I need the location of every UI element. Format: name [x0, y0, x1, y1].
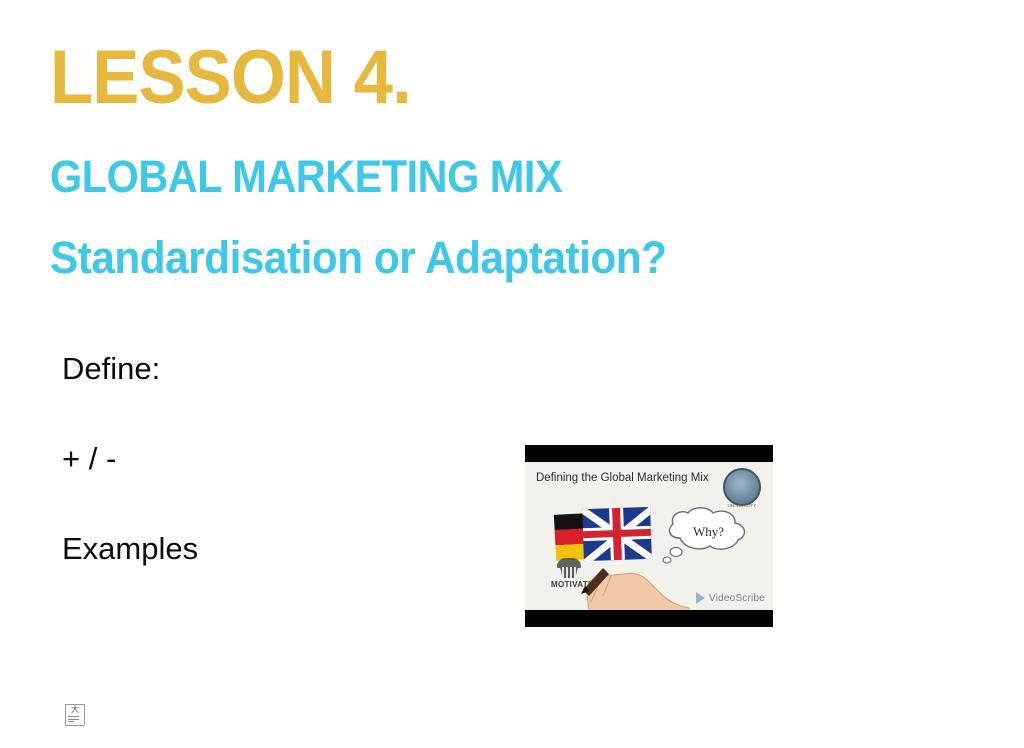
- document-icon: 大: [65, 704, 85, 726]
- cupcake-icon: [556, 558, 582, 578]
- play-triangle-icon: [696, 592, 705, 604]
- video-thumbnail[interactable]: Defining the Global Marketing Mix UNIVER…: [525, 445, 773, 627]
- document-icon-lines: [66, 716, 84, 722]
- video-caption: Defining the Global Marketing Mix: [536, 472, 709, 484]
- thought-bubble-label: Why?: [693, 524, 724, 540]
- title-block: LESSON 4. GLOBAL MARKETING MIX Standardi…: [50, 40, 950, 280]
- list-item: + / -: [62, 442, 482, 476]
- drawing-hand-icon: [581, 550, 691, 610]
- subtitle-secondary: Standardisation or Adaptation?: [50, 235, 896, 280]
- cupcake-frosting: [557, 558, 581, 568]
- document-icon-line: [68, 719, 79, 720]
- university-seal-icon: [723, 468, 761, 506]
- document-icon-line: [68, 721, 74, 722]
- body-list: Define: + / - Examples: [62, 352, 482, 622]
- document-icon-glyph: 大: [66, 706, 84, 714]
- videoscribe-label: VideoScribe: [709, 593, 765, 604]
- slide-canvas: LESSON 4. GLOBAL MARKETING MIX Standardi…: [0, 0, 1024, 748]
- videoscribe-brand: VideoScribe: [696, 592, 765, 604]
- video-frame: Defining the Global Marketing Mix UNIVER…: [525, 462, 773, 610]
- document-icon-line: [68, 716, 79, 717]
- subtitle-primary: GLOBAL MARKETING MIX: [50, 154, 878, 199]
- cupcake-base: [560, 567, 578, 578]
- page-title: LESSON 4.: [50, 40, 887, 116]
- list-item: Define:: [62, 352, 482, 386]
- list-item: Examples: [62, 532, 482, 566]
